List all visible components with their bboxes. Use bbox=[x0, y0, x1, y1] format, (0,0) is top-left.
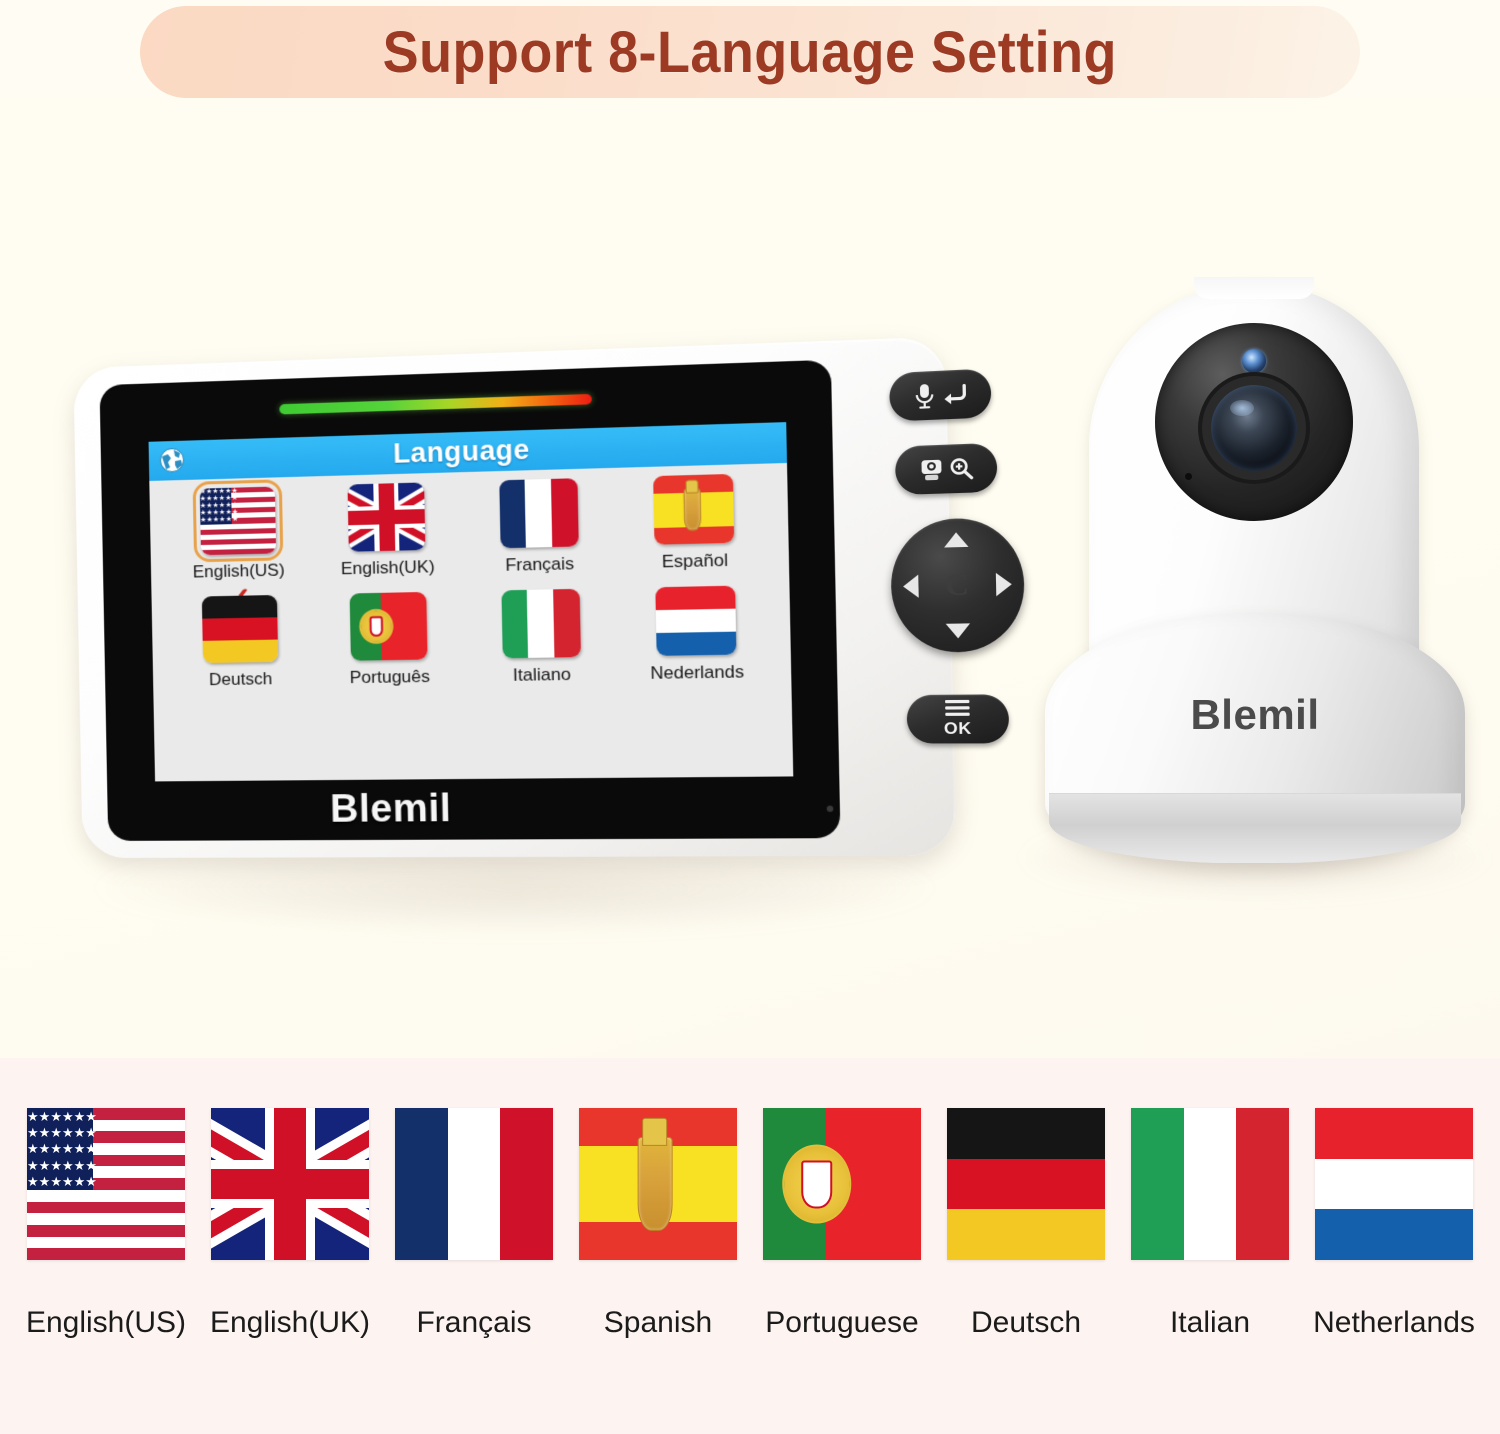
flag-us: ★★★★★★ ★★★★★★ ★★★★★★ ★★★★★★ ★★★★★★ bbox=[199, 487, 275, 556]
menu-lines-icon bbox=[945, 699, 970, 718]
monitor-shell: Language bbox=[73, 337, 956, 858]
language-option-deutsch[interactable]: Deutsch bbox=[166, 594, 315, 691]
camera-icon bbox=[919, 456, 944, 482]
dpad-left-icon[interactable] bbox=[903, 575, 919, 599]
ir-sensor-icon bbox=[1242, 349, 1266, 373]
portugal-coat-of-arms bbox=[782, 1144, 852, 1223]
directional-pad[interactable]: C bbox=[890, 517, 1026, 653]
sound-level-led-bar bbox=[279, 394, 592, 414]
ok-label: OK bbox=[944, 720, 972, 739]
camera-microphone-pinhole bbox=[1185, 473, 1192, 480]
header-banner: Support 8-Language Setting bbox=[140, 6, 1360, 98]
page-title: Support 8-Language Setting bbox=[383, 19, 1117, 86]
language-option-label: English(US) bbox=[192, 560, 284, 582]
flag-item-english-uk: English(UK) bbox=[200, 1108, 380, 1340]
flag-nl bbox=[1315, 1108, 1473, 1260]
microphone-icon bbox=[913, 382, 936, 410]
return-arrow-icon bbox=[940, 382, 967, 407]
flag-item-label: English(UK) bbox=[210, 1306, 370, 1340]
flag-es bbox=[579, 1108, 737, 1260]
camera-lens bbox=[1211, 385, 1297, 471]
screen-title: Language bbox=[393, 434, 530, 470]
language-option-label: Deutsch bbox=[209, 669, 273, 690]
language-option-label: Português bbox=[350, 667, 431, 689]
microphone-pinhole-icon bbox=[827, 806, 834, 812]
monitor-control-panel: C OK bbox=[869, 354, 1022, 835]
spain-coat-of-arms bbox=[683, 488, 701, 531]
language-option-label: Nederlands bbox=[650, 662, 744, 684]
flag-item-label: English(US) bbox=[26, 1306, 186, 1340]
flag-item-italian: Italian bbox=[1120, 1108, 1300, 1340]
flag-nl bbox=[656, 586, 737, 656]
language-option-portugues[interactable]: Português bbox=[313, 591, 465, 689]
menu-ok-button[interactable]: OK bbox=[906, 694, 1009, 743]
flag-fr bbox=[395, 1108, 553, 1260]
flag-item-label: Italian bbox=[1170, 1306, 1250, 1340]
flag-es bbox=[653, 474, 734, 545]
flag-pt bbox=[763, 1108, 921, 1260]
camera-zoom-button[interactable] bbox=[895, 443, 998, 495]
dpad-down-icon[interactable] bbox=[946, 623, 971, 638]
flag-item-label: Deutsch bbox=[971, 1306, 1081, 1340]
language-option-label: English(UK) bbox=[341, 557, 435, 579]
camera-lens-plate bbox=[1155, 323, 1353, 521]
parent-monitor-unit: Language bbox=[78, 368, 938, 878]
spain-coat-of-arms bbox=[637, 1137, 672, 1231]
lcd-screen: Language bbox=[149, 422, 794, 781]
baby-camera-unit: Blemil bbox=[1045, 283, 1465, 873]
language-grid-row1: ★★★★★★ ★★★★★★ ★★★★★★ ★★★★★★ ★★★★★★ Engli… bbox=[164, 473, 774, 583]
flag-de bbox=[202, 595, 278, 663]
language-option-english-uk[interactable]: English(UK) bbox=[311, 481, 463, 580]
dpad-up-icon[interactable] bbox=[944, 532, 969, 547]
camera-base-band bbox=[1049, 793, 1461, 863]
camera-top-notch bbox=[1194, 277, 1314, 299]
screen-body: ★★★★★★ ★★★★★★ ★★★★★★ ★★★★★★ ★★★★★★ Engli… bbox=[149, 463, 793, 781]
flag-item-label: Français bbox=[416, 1306, 531, 1340]
flag-de bbox=[947, 1108, 1105, 1260]
flag-item-label: Portuguese bbox=[765, 1306, 918, 1340]
dpad-right-icon[interactable] bbox=[996, 573, 1012, 597]
product-scene: Language bbox=[0, 98, 1500, 1058]
talk-back-button[interactable] bbox=[889, 368, 992, 421]
globe-icon bbox=[159, 447, 186, 474]
language-grid-row2: Deutsch bbox=[166, 585, 777, 691]
flag-uk bbox=[211, 1108, 369, 1260]
monitor-brand-logo: Blemil bbox=[330, 787, 452, 832]
flag-item-portuguese: Portuguese bbox=[752, 1108, 932, 1340]
language-option-nederlands[interactable]: Nederlands bbox=[617, 585, 776, 685]
flag-pt bbox=[350, 592, 428, 661]
flag-fr bbox=[499, 478, 578, 548]
language-option-italiano[interactable]: Italiano bbox=[464, 588, 620, 687]
portugal-coat-of-arms bbox=[359, 609, 393, 645]
monitor-bezel: Language bbox=[100, 360, 841, 841]
flag-item-label: Netherlands bbox=[1313, 1306, 1475, 1340]
flag-item-netherlands: Netherlands bbox=[1304, 1108, 1484, 1340]
flag-item-label: Spanish bbox=[604, 1306, 712, 1340]
language-option-label: Italiano bbox=[513, 664, 571, 685]
flag-item-deutsch: Deutsch bbox=[936, 1108, 1116, 1340]
dpad-center-label[interactable]: C bbox=[945, 567, 970, 604]
language-option-english-us[interactable]: ★★★★★★ ★★★★★★ ★★★★★★ ★★★★★★ ★★★★★★ Engli… bbox=[164, 486, 313, 584]
camera-brand-logo: Blemil bbox=[1045, 691, 1465, 739]
flag-uk bbox=[348, 482, 426, 551]
flag-row: ★★★★★★ ★★★★★★ ★★★★★★ ★★★★★★ ★★★★★★ Engli… bbox=[16, 1108, 1484, 1340]
flag-it bbox=[1131, 1108, 1289, 1260]
flag-item-english-us: ★★★★★★ ★★★★★★ ★★★★★★ ★★★★★★ ★★★★★★ Engli… bbox=[16, 1108, 196, 1340]
language-option-francais[interactable]: Français bbox=[462, 477, 618, 577]
language-option-label: Español bbox=[662, 550, 729, 572]
language-option-label: Français bbox=[505, 554, 574, 576]
language-flag-strip: ★★★★★★ ★★★★★★ ★★★★★★ ★★★★★★ ★★★★★★ Engli… bbox=[0, 1058, 1500, 1434]
flag-it bbox=[501, 589, 580, 658]
magnifier-plus-icon bbox=[948, 456, 973, 480]
flag-us: ★★★★★★ ★★★★★★ ★★★★★★ ★★★★★★ ★★★★★★ bbox=[27, 1108, 185, 1260]
flag-item-spanish: Spanish bbox=[568, 1108, 748, 1340]
header-banner-wrapper: Support 8-Language Setting bbox=[140, 6, 1360, 98]
flag-item-francais: Français bbox=[384, 1108, 564, 1340]
language-option-espanol[interactable]: Español bbox=[615, 473, 774, 574]
